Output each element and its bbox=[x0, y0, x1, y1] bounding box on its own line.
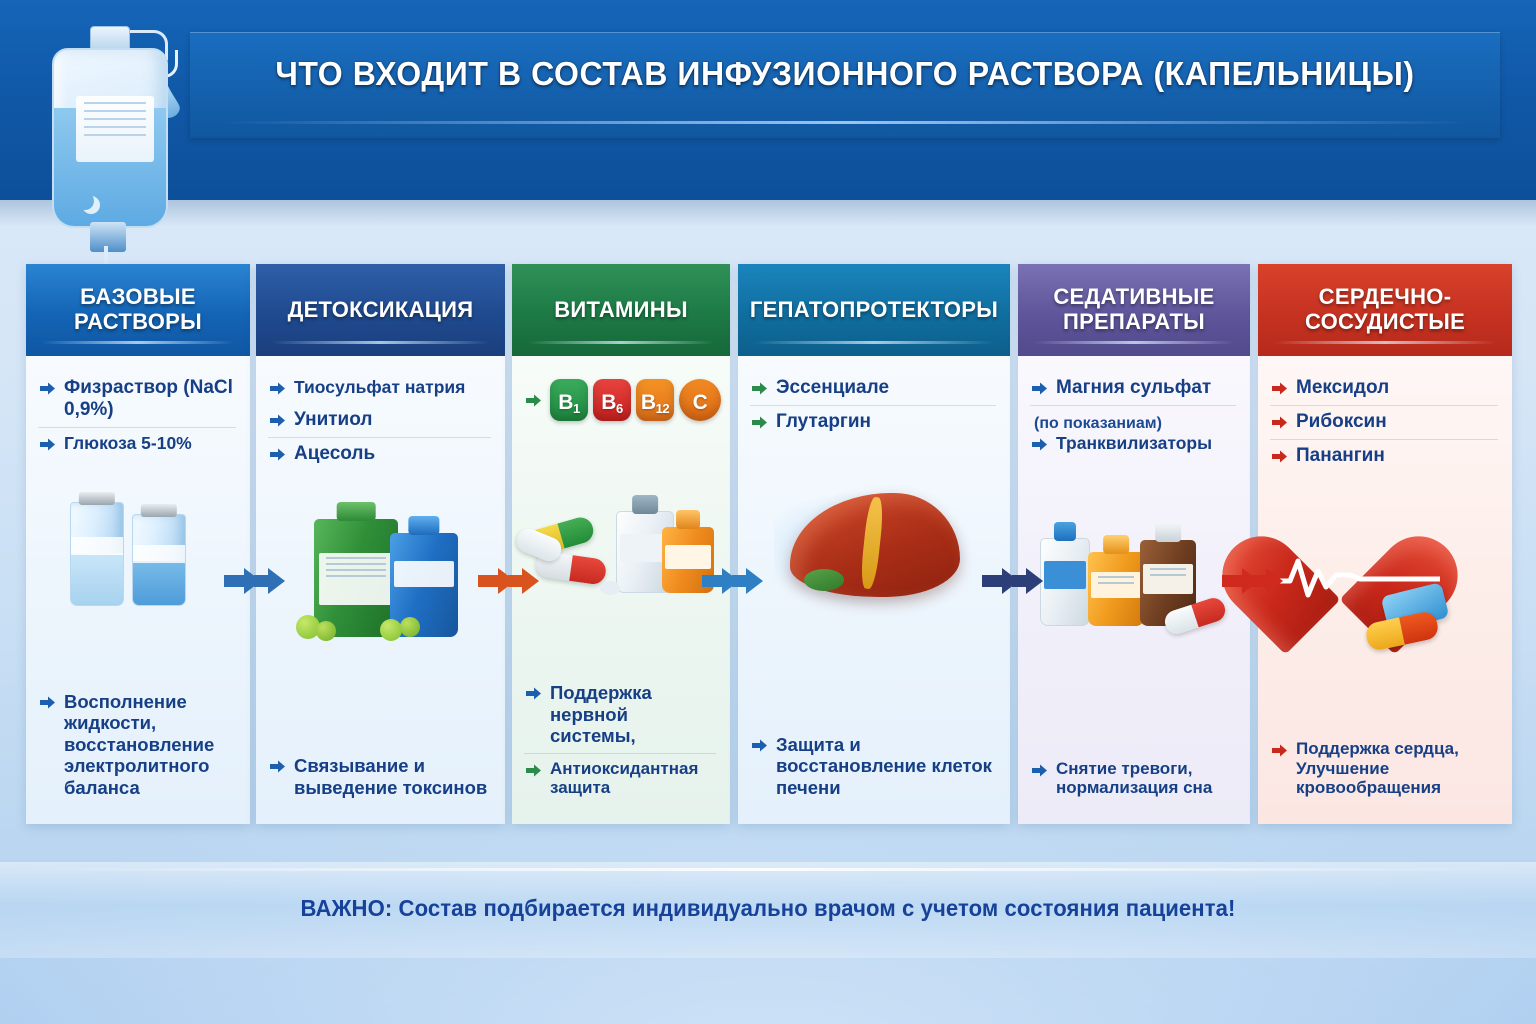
benefit-hepatoprotectors: Защита и восстановление клеток печени bbox=[738, 729, 1010, 824]
list-item[interactable]: Тиосульфат натрия bbox=[268, 372, 491, 404]
benefit-label: Восполнение жидкости, восстановление эле… bbox=[64, 691, 236, 798]
list-item[interactable]: Панангин bbox=[1270, 439, 1498, 473]
benefit-label: Поддержка сердца, Улучшение кровообращен… bbox=[1296, 739, 1498, 798]
arrow-blue-icon bbox=[38, 693, 57, 712]
column-vitamins[interactable]: ВИТАМИНЫ B1 B6 B12 C bbox=[512, 264, 730, 824]
benefit-sedatives: Снятие тревоги, нормализация сна bbox=[1018, 754, 1250, 824]
arrow-red-icon bbox=[1270, 447, 1289, 466]
benefit-row: Поддержка нервной системы, bbox=[524, 677, 716, 752]
benefit-cardiovascular: Поддержка сердца, Улучшение кровообращен… bbox=[1258, 734, 1512, 824]
vial-left bbox=[70, 502, 124, 606]
benefit-row: Поддержка сердца, Улучшение кровообращен… bbox=[1270, 734, 1498, 804]
heart-ecg-icon bbox=[1258, 477, 1512, 647]
list-item[interactable]: Ацесоль bbox=[268, 437, 491, 471]
arrow-green-icon bbox=[750, 379, 769, 398]
list-item[interactable]: Глюкоза 5-10% bbox=[38, 427, 236, 460]
item-label: Магния сульфат bbox=[1056, 377, 1211, 399]
arrow-blue-icon bbox=[524, 684, 543, 703]
list-item[interactable]: Глутаргин bbox=[750, 405, 996, 439]
arrow-red-icon bbox=[1270, 741, 1289, 760]
list-item[interactable]: Эссенциале bbox=[750, 372, 996, 405]
list-item[interactable]: Магния сульфат bbox=[1030, 372, 1236, 405]
benefit-row: Связывание и выведение токсинов bbox=[268, 750, 491, 804]
header-band bbox=[0, 0, 1536, 200]
column-header-base-solutions: БАЗОВЫЕ РАСТВОРЫ bbox=[26, 264, 250, 356]
column-base-solutions[interactable]: БАЗОВЫЕ РАСТВОРЫ Физраствор (NaCl 0,9%) … bbox=[26, 264, 250, 824]
connector-arrow-5 bbox=[1222, 564, 1288, 598]
arrow-blue-icon bbox=[1030, 435, 1049, 454]
list-item[interactable]: Мексидол bbox=[1270, 372, 1498, 405]
iv-bag-body bbox=[52, 48, 168, 228]
arrow-red-icon bbox=[1270, 413, 1289, 432]
liver-icon bbox=[738, 443, 1010, 613]
column-hepatoprotectors[interactable]: ГЕПАТОПРОТЕКТОРЫ Эссенциале Глутаргин За… bbox=[738, 264, 1010, 824]
item-label: Панангин bbox=[1296, 445, 1385, 467]
item-list-cardiovascular: Мексидол Рибоксин Панангин bbox=[1258, 356, 1512, 473]
column-header-vitamins: ВИТАМИНЫ bbox=[512, 264, 730, 356]
benefit-label: Снятие тревоги, нормализация сна bbox=[1056, 759, 1236, 798]
item-note: (по показаниам) bbox=[1030, 411, 1236, 433]
benefit-label: Связывание и выведение токсинов bbox=[294, 755, 491, 798]
column-header-detox: ДЕТОКСИКАЦИЯ bbox=[256, 264, 505, 356]
benefit-row: Восполнение жидкости, восстановление эле… bbox=[38, 686, 236, 804]
connector-arrow-1 bbox=[224, 564, 290, 598]
benefit-label: Защита и восстановление клеток печени bbox=[776, 734, 996, 798]
column-detox[interactable]: ДЕТОКСИКАЦИЯ Тиосульфат натрия Унитиол А… bbox=[256, 264, 505, 824]
medicine-bottles-icon bbox=[1018, 464, 1250, 634]
badge-list-vitamins: B1 B6 B12 C bbox=[512, 356, 730, 427]
item-label: Ацесоль bbox=[294, 443, 375, 465]
item-label: Эссенциале bbox=[776, 377, 889, 399]
benefit-detox: Связывание и выведение токсинов bbox=[256, 750, 505, 824]
arrow-red-icon bbox=[1270, 379, 1289, 398]
benefit-label: Поддержка нервной системы, bbox=[550, 682, 716, 746]
item-label: Глутаргин bbox=[776, 411, 871, 433]
arrow-blue-icon bbox=[1030, 761, 1049, 780]
arrow-blue-icon bbox=[268, 445, 287, 464]
connector-arrow-2 bbox=[478, 564, 544, 598]
two-vials-icon bbox=[26, 464, 250, 614]
header-shadow bbox=[0, 200, 1536, 226]
columns-container: БАЗОВЫЕ РАСТВОРЫ Физраствор (NaCl 0,9%) … bbox=[0, 264, 1536, 824]
arrow-blue-icon bbox=[750, 736, 769, 755]
arrow-blue-icon bbox=[268, 757, 287, 776]
list-item[interactable]: (по показаниам) Транквилизаторы bbox=[1030, 405, 1236, 460]
connector-arrow-3 bbox=[702, 564, 768, 598]
item-list-detox: Тиосульфат натрия Унитиол Ацесоль bbox=[256, 356, 505, 471]
vitamin-badges-row: B1 B6 B12 C bbox=[524, 372, 716, 427]
list-item[interactable]: Унитиол bbox=[268, 404, 491, 437]
benefit-label: Антиоксидантная защита bbox=[550, 759, 716, 798]
arrow-green-icon bbox=[750, 413, 769, 432]
vitamin-badge-b12: B12 bbox=[636, 379, 674, 421]
pills-capsules-icon bbox=[512, 431, 730, 601]
list-item[interactable]: Физраствор (NaCl 0,9%) bbox=[38, 372, 236, 427]
arrow-blue-icon bbox=[38, 379, 57, 398]
vitamin-badge-b6: B6 bbox=[593, 379, 631, 421]
vial-right bbox=[132, 514, 186, 606]
arrow-blue-icon bbox=[38, 435, 57, 454]
arrow-blue-icon bbox=[1030, 379, 1049, 398]
arrow-green-icon bbox=[524, 391, 543, 410]
item-label: Рибоксин bbox=[1296, 411, 1387, 433]
footer-note: ВАЖНО: Состав подбирается индивидуально … bbox=[31, 895, 1506, 922]
pill-small bbox=[600, 581, 620, 595]
connector-arrow-4 bbox=[982, 564, 1048, 598]
column-cardiovascular[interactable]: СЕРДЕЧНО-СОСУДИСТЫЕ Мексидол Рибоксин Па… bbox=[1258, 264, 1512, 824]
benefit-row: Защита и восстановление клеток печени bbox=[750, 729, 996, 804]
green-bottle-icon bbox=[256, 475, 505, 645]
benefit-vitamins: Поддержка нервной системы, Антиоксидантн… bbox=[512, 677, 730, 824]
vitamin-badge-c: C bbox=[679, 379, 721, 421]
column-header-cardiovascular: СЕРДЕЧНО-СОСУДИСТЫЕ bbox=[1258, 264, 1512, 356]
page-title: ЧТО ВХОДИТ В СОСТАВ ИНФУЗИОННОГО РАСТВОР… bbox=[210, 55, 1481, 93]
item-label: Транквилизаторы bbox=[1056, 433, 1212, 453]
arrow-blue-icon bbox=[268, 411, 287, 430]
benefit-row: Антиоксидантная защита bbox=[524, 753, 716, 804]
item-label: Унитиол bbox=[294, 409, 372, 431]
iv-bag-icon bbox=[28, 14, 208, 284]
moon-icon bbox=[76, 192, 94, 210]
arrow-green-icon bbox=[524, 761, 543, 780]
column-header-sedatives: СЕДАТИВНЫЕ ПРЕПАРАТЫ bbox=[1018, 264, 1250, 356]
item-label: Глюкоза 5-10% bbox=[64, 433, 192, 453]
vitamin-badge-b1: B1 bbox=[550, 379, 588, 421]
column-header-hepatoprotectors: ГЕПАТОПРОТЕКТОРЫ bbox=[738, 264, 1010, 356]
item-label: Физраствор (NaCl 0,9%) bbox=[64, 377, 236, 421]
iv-label bbox=[76, 96, 154, 162]
item-list-base-solutions: Физраствор (NaCl 0,9%) Глюкоза 5-10% bbox=[26, 356, 250, 460]
benefit-base-solutions: Восполнение жидкости, восстановление эле… bbox=[26, 686, 250, 824]
item-label: Тиосульфат натрия bbox=[294, 377, 465, 397]
bottle-orange bbox=[1088, 552, 1144, 626]
item-label: Мексидол bbox=[1296, 377, 1389, 399]
arrow-blue-icon bbox=[268, 379, 287, 398]
list-item[interactable]: Рибоксин bbox=[1270, 405, 1498, 439]
item-list-hepatoprotectors: Эссенциале Глутаргин bbox=[738, 356, 1010, 439]
item-list-sedatives: Магния сульфат (по показаниам) Транквили… bbox=[1018, 356, 1250, 460]
column-sedatives[interactable]: СЕДАТИВНЫЕ ПРЕПАРАТЫ Магния сульфат (по … bbox=[1018, 264, 1250, 824]
benefit-row: Снятие тревоги, нормализация сна bbox=[1030, 754, 1236, 804]
